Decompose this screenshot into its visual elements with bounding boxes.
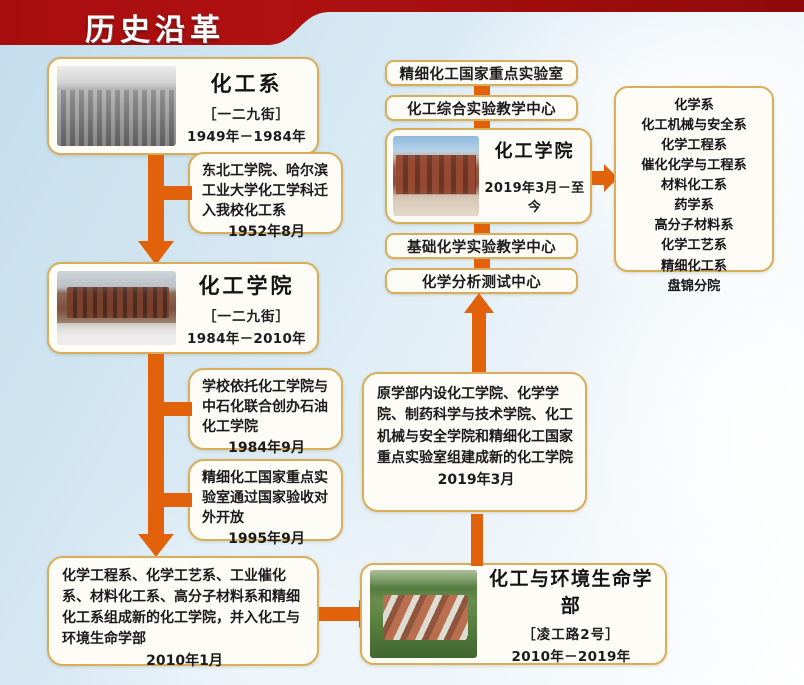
note-card-2019-merge[interactable]: 原学部内设化工学院、化学学院、制药科学与技术学院、化工机械与安全学院和精细化工国…	[362, 372, 587, 512]
department-item: 高分子材料系	[622, 216, 766, 236]
unit-card-faculty-text: 化工与环境生命学部 ［凌工路2号］ 2010年－2019年	[477, 564, 665, 665]
unit-address: ［一二九街］	[180, 305, 313, 325]
arrow-down-unit2-unit3	[136, 354, 176, 559]
department-item: 药学系	[622, 196, 766, 216]
note-text: 学校依托化工学院与中石化联合创办石油化工学院	[202, 379, 328, 435]
arrow-left-note3	[148, 487, 192, 513]
department-item: 材料化工系	[622, 176, 766, 196]
note-text: 东北工学院、哈尔滨工业大学化工学科迁入我校化工系	[202, 163, 328, 219]
unit-card-huagong-xueyuan-1984[interactable]: 化工学院 ［一二九街］ 1984年－2010年	[47, 262, 319, 354]
unit-card-2019-text: 化工学院 2019年3月－至今	[479, 137, 590, 215]
unit-name: 化工系	[180, 68, 313, 98]
unit-years: 2019年3月－至今	[483, 177, 586, 215]
note-date: 2010年1月	[62, 651, 307, 672]
department-item: 盘锦分院	[622, 277, 766, 297]
note-text: 原学部内设化工学院、化学学院、制药科学与技术学院、化工机械与安全学院和精细化工国…	[377, 386, 573, 466]
unit-card-huagong-xueyuan-2019[interactable]: 化工学院 2019年3月－至今	[385, 128, 592, 224]
note-date: 1952年8月	[202, 222, 331, 242]
pill-basic-chem-teaching-center[interactable]: 基础化学实验教学中心	[385, 233, 578, 259]
header-banner: 历史沿革	[0, 0, 804, 45]
unit-years: 1984年－2010年	[180, 327, 313, 347]
note-date: 2019年3月	[377, 470, 575, 491]
unit-name: 化工学院	[180, 270, 313, 300]
unit-card-1984-text: 化工学院 ［一二九街］ 1984年－2010年	[176, 270, 317, 347]
department-item: 化工机械与安全系	[622, 116, 766, 136]
department-list: 化学系 化工机械与安全系 化学工程系 催化化学与工程系 材料化工系 药学系 高分…	[616, 88, 772, 305]
unit-card-2010-merge[interactable]: 化学工程系、化学工艺系、工业催化系、材料化工系、高分子材料系和精细化工系组成新的…	[47, 556, 319, 666]
unit-name: 化工学院	[483, 137, 586, 163]
unit-years: 2010年－2019年	[481, 645, 661, 665]
winter-campus-photo	[57, 271, 176, 345]
page-title: 历史沿革	[85, 5, 225, 45]
note-card-1984[interactable]: 学校依托化工学院与中石化联合创办石油化工学院 1984年9月	[188, 368, 343, 450]
department-item: 催化化学与工程系	[622, 156, 766, 176]
note-text: 化学工程系、化学工艺系、工业催化系、材料化工系、高分子材料系和精细化工系组成新的…	[62, 568, 300, 647]
note-card-1952[interactable]: 东北工学院、哈尔滨工业大学化工学科迁入我校化工系 1952年8月	[188, 152, 343, 234]
pill-comprehensive-teaching-center[interactable]: 化工综合实验教学中心	[385, 95, 578, 121]
unit-address: ［一二九街］	[180, 103, 313, 123]
campus-building-photo	[393, 136, 479, 216]
pill-chem-analysis-center[interactable]: 化学分析测试中心	[385, 268, 578, 294]
department-item: 精细化工系	[622, 257, 766, 277]
unit-card-huagongxi[interactable]: 化工系 ［一二九街］ 1949年－1984年	[47, 57, 319, 155]
unit-address: ［凌工路2号］	[481, 623, 661, 643]
aerial-campus-photo	[370, 570, 477, 658]
note-date: 1984年9月	[202, 438, 331, 458]
arrow-up-note-to-pills	[463, 293, 495, 375]
unit-years: 1949年－1984年	[180, 125, 313, 145]
arrow-left-note2	[148, 396, 192, 422]
department-list-card[interactable]: 化学系 化工机械与安全系 化学工程系 催化化学与工程系 材料化工系 药学系 高分…	[614, 86, 774, 272]
note-date: 1995年9月	[202, 529, 331, 549]
arrow-left-note1	[148, 180, 192, 206]
unit-name: 化工与环境生命学部	[481, 564, 661, 618]
unit-card-huagongxi-text: 化工系 ［一二九街］ 1949年－1984年	[176, 68, 317, 145]
note-card-1995[interactable]: 精细化工国家重点实验室通过国家验收对外开放 1995年9月	[188, 459, 343, 541]
history-timeline-diagram: 历史沿革 化工系 ［一二九街］ 1949年－1984年 东北工学院、哈尔滨工业大…	[0, 0, 804, 685]
department-item: 化学工程系	[622, 136, 766, 156]
note-text: 精细化工国家重点实验室通过国家验收对外开放	[202, 470, 328, 526]
old-building-photo	[57, 66, 176, 146]
arrow-up-faculty-to-note	[464, 514, 490, 566]
pill-state-key-lab[interactable]: 精细化工国家重点实验室	[385, 60, 578, 86]
department-item: 化学系	[622, 96, 766, 116]
unit-card-faculty-2010[interactable]: 化工与环境生命学部 ［凌工路2号］ 2010年－2019年	[360, 563, 667, 665]
department-item: 化学工艺系	[622, 236, 766, 256]
arrow-down-unit1-unit2	[136, 155, 176, 267]
